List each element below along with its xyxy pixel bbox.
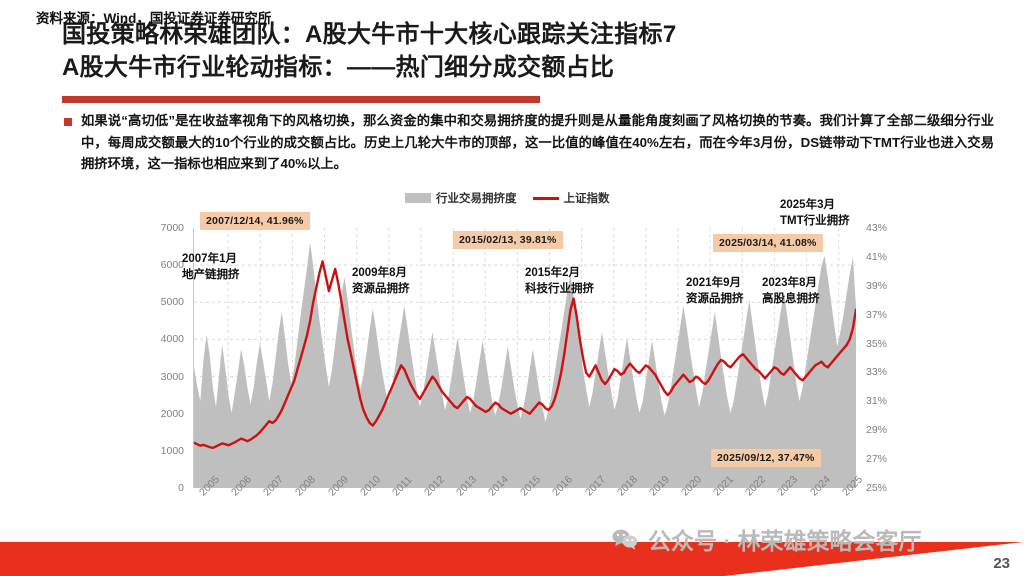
y-axis-right: 43%41%39%37%35%33%31%29%27%25% [858,228,904,488]
title-line-2: A股大牛市行业轮动指标：——热门细分成交额占比 [62,51,962,84]
y-tick-right: 29% [866,424,887,436]
y-tick-left: 3000 [161,371,184,383]
y-tick-right: 27% [866,453,887,465]
legend-item-index: 上证指数 [533,190,610,206]
annotation-2007-property: 2007年1月 地产链拥挤 [182,252,240,283]
body-paragraph: 如果说“高切低”是在收益率视角下的风格切换，那么资金的集中和交易拥挤度的提升则是… [81,110,994,175]
annotation-2015-technology: 2015年2月 科技行业拥挤 [525,266,594,297]
source-note: 资料来源：Wind，国投证券证券研究所 [36,7,271,27]
title-underline-rule [62,96,540,103]
footer-bar [0,542,1024,576]
y-tick-right: 35% [866,338,887,350]
chart-container: 行业交易拥挤度 上证指数 700060005000400030002000100… [140,190,915,530]
y-tick-right: 43% [866,222,887,234]
callout-2025-09-latest: 2025/09/12, 37.47% [711,449,821,467]
y-tick-right: 37% [866,309,887,321]
bullet-square-icon [64,118,72,126]
legend-line-swatch-icon [533,197,559,200]
annotation-2025-tmt: 2025年3月 TMT行业拥挤 [780,198,850,229]
legend-area-swatch-icon [405,193,431,203]
callout-2007-peak: 2007/12/14, 41.96% [200,212,310,230]
callout-2015-peak: 2015/02/13, 39.81% [453,231,563,249]
y-tick-left: 0 [178,482,184,494]
y-tick-right: 25% [866,482,887,494]
annotation-2021-resources: 2021年9月 资源品拥挤 [686,276,744,307]
y-tick-left: 5000 [161,296,184,308]
annotation-2009-resources: 2009年8月 资源品拥挤 [352,266,410,297]
y-tick-right: 33% [866,366,887,378]
x-axis: 2005200620072008200920102011201220132014… [193,490,855,534]
y-tick-left: 2000 [161,408,184,420]
body-paragraph-block: 如果说“高切低”是在收益率视角下的风格切换，那么资金的集中和交易拥挤度的提升则是… [64,110,994,175]
y-tick-right: 39% [866,280,887,292]
chart-legend: 行业交易拥挤度 上证指数 [405,190,610,206]
y-tick-left: 1000 [161,445,184,457]
y-tick-left: 7000 [161,222,184,234]
y-tick-right: 31% [866,395,887,407]
y-tick-left: 6000 [161,259,184,271]
y-tick-left: 4000 [161,333,184,345]
legend-item-congestion: 行业交易拥挤度 [405,190,517,206]
legend-label-congestion: 行业交易拥挤度 [436,190,517,206]
page-title: 国投策略林荣雄团队：A股大牛市十大核心跟踪关注指标7 A股大牛市行业轮动指标：—… [62,18,962,84]
annotation-2023-dividend: 2023年8月 高股息拥挤 [762,276,820,307]
page-number: 23 [993,555,1010,572]
legend-label-index: 上证指数 [564,190,610,206]
callout-2025-03-peak: 2025/03/14, 41.08% [713,234,823,252]
y-tick-right: 41% [866,251,887,263]
